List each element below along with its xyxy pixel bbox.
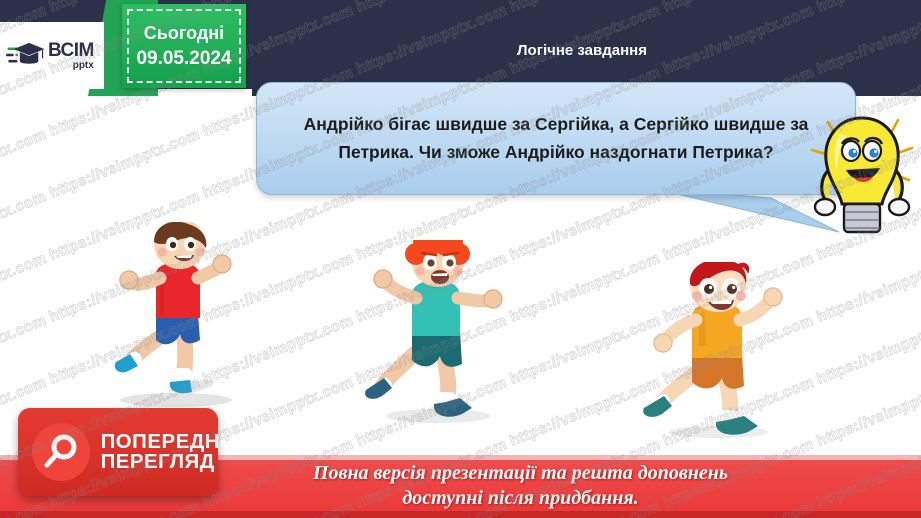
brand-name: ВСІМ (48, 41, 94, 60)
boy-running-orange-shirt (642, 262, 792, 442)
purchase-notice-line2: доступні після придбання. (402, 487, 638, 509)
speech-bubble-group: Андрійко бігає швидше за Сергійка, а Сер… (256, 82, 856, 222)
lightbulb-character (806, 104, 918, 242)
preview-badge-line2: ПЕРЕГЛЯД (101, 452, 242, 472)
brand-logo[interactable]: ВСІМ pptx (0, 22, 104, 89)
today-date-badge: Сьогодні 09.05.2024 (122, 4, 246, 88)
today-label: Сьогодні (144, 23, 224, 44)
graduation-cap-icon (6, 39, 46, 73)
slide-title-bar: Логічне завдання (252, 28, 912, 72)
preview-badge-icon-circle (32, 423, 90, 481)
brand-suffix: pptx (48, 61, 94, 71)
page-title: Логічне завдання (517, 42, 647, 59)
logic-question-text: Андрійко бігає швидше за Сергійка, а Сер… (257, 111, 855, 165)
speech-bubble: Андрійко бігає швидше за Сергійка, а Сер… (256, 82, 856, 195)
purchase-notice-line1: Повна версія презентації та решта доповн… (313, 462, 728, 484)
footer-bottom-strip (0, 511, 921, 518)
preview-badge-text: ПОПЕРЕДНІЙ ПЕРЕГЛЯД (102, 432, 240, 473)
brand-logo-text: ВСІМ pptx (48, 41, 94, 71)
boy-running-red-shirt (112, 222, 244, 412)
preview-badge[interactable]: ПОПЕРЕДНІЙ ПЕРЕГЛЯД (18, 408, 218, 496)
today-date: 09.05.2024 (136, 48, 231, 70)
magnifier-icon (41, 432, 81, 472)
preview-badge-line1: ПОПЕРЕДНІЙ (101, 432, 242, 452)
boy-running-teal-shirt (360, 240, 510, 426)
